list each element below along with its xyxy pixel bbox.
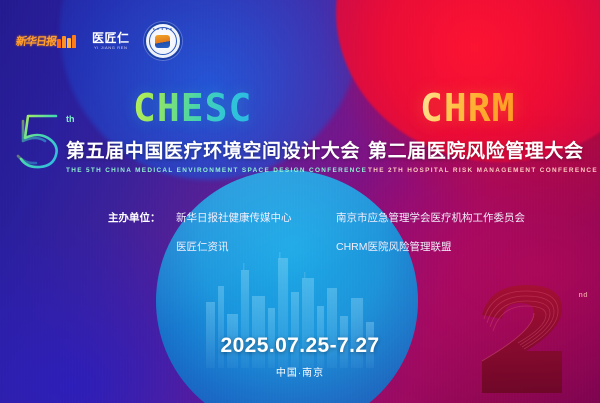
logo-yi-jiang-ren-en: YI JIANG REN xyxy=(92,46,130,50)
organizer-item: 南京市应急管理学会医疗机构工作委员会 xyxy=(336,210,528,225)
left-title-cn: 第五届中国医疗环境空间设计大会 xyxy=(66,136,367,163)
ribbon-number-two-decoration xyxy=(464,275,592,403)
logo-xinhua-daily-mark xyxy=(57,35,76,48)
organizer-item: CHRM医院风险管理联盟 xyxy=(336,239,528,254)
logo-xinhua-daily: 新华日报 xyxy=(14,30,78,52)
right-conference-title: 第二届医院风险管理大会 THE 2TH HOSPITAL RISK MANAGE… xyxy=(368,136,598,174)
left-title-en: THE 5TH CHINA MEDICAL ENVIRONMENT SPACE … xyxy=(66,167,367,174)
organizers-label: 主办单位： xyxy=(108,210,166,225)
logo-xinhua-daily-text: 新华日报 xyxy=(15,33,57,49)
logo-yi-jiang-ren: 医匠仁 YI JIANG REN xyxy=(92,32,130,50)
organizer-item: 医匠仁资讯 xyxy=(176,239,326,254)
right-title-cn: 第二届医院风险管理大会 xyxy=(368,136,598,163)
right-title-en: THE 2TH HOSPITAL RISK MANAGEMENT CONFERE… xyxy=(368,167,598,174)
partner-logo-bar: 新华日报 医匠仁 YI JIANG REN ★ ★ ★ ★ ★ xyxy=(14,22,182,60)
seal-emblem-core xyxy=(155,35,170,48)
conference-poster: 新华日报 医匠仁 YI JIANG REN ★ ★ ★ ★ ★ xyxy=(0,0,600,403)
organizers-block: 主办单位： 新华日报社健康传媒中心 南京市应急管理学会医疗机构工作委员会 医匠仁… xyxy=(108,210,528,254)
logo-yi-jiang-ren-cn: 医匠仁 xyxy=(92,32,130,44)
chrm-wordmark: CHRM xyxy=(420,86,516,130)
logo-association-seal-icon: ★ ★ ★ ★ ★ xyxy=(144,22,182,60)
headline-zone: th CHESC CHRM 第五届中国医疗环境空间设计大会 THE 5TH CH… xyxy=(0,88,600,188)
edition-suffix-th: th xyxy=(66,114,75,124)
chesc-wordmark: CHESC xyxy=(133,86,252,130)
edition-number-five-icon xyxy=(12,110,68,172)
ribbon-edition-suffix: nd xyxy=(578,292,588,299)
left-conference-title: 第五届中国医疗环境空间设计大会 THE 5TH CHINA MEDICAL EN… xyxy=(66,136,367,174)
seal-arc-text: ★ ★ ★ ★ ★ xyxy=(146,27,180,31)
organizer-item: 新华日报社健康传媒中心 xyxy=(176,210,326,225)
